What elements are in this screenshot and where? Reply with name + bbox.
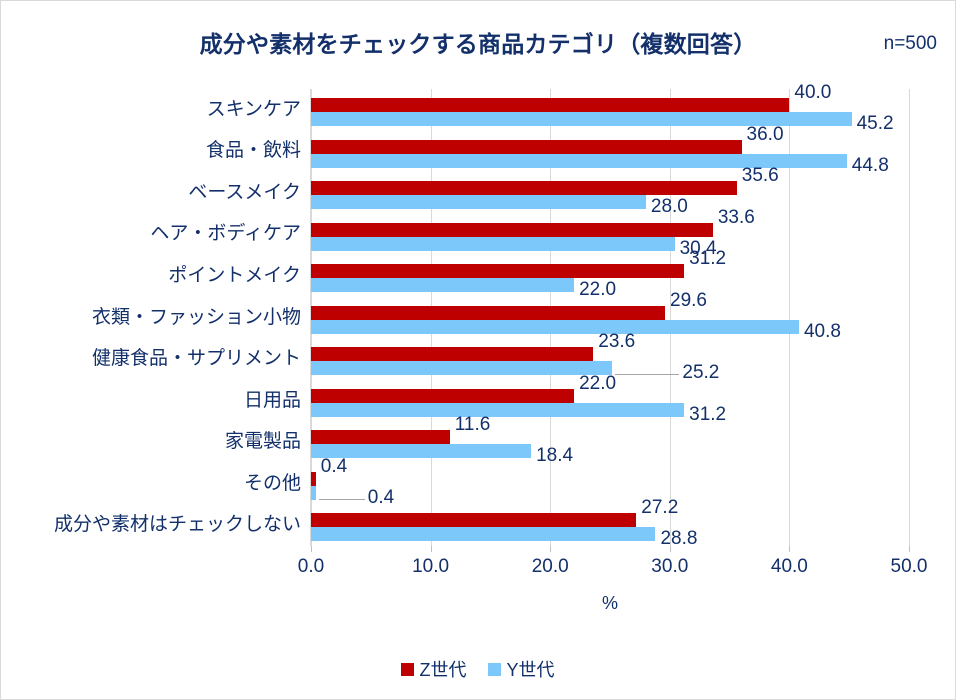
data-label: 35.6	[742, 166, 779, 185]
leader-line	[319, 499, 365, 500]
axis-tick	[550, 546, 551, 552]
chart-row: 0.40.4	[311, 463, 909, 505]
bar-Z世代	[311, 264, 684, 278]
category-axis: スキンケア食品・飲料ベースメイクヘア・ボディケアポイントメイク衣類・ファッション…	[1, 89, 301, 546]
chart-container: 成分や素材をチェックする商品カテゴリ（複数回答） n=500 スキンケア食品・飲…	[0, 0, 956, 700]
bar-Z世代	[311, 140, 742, 154]
legend-swatch-icon	[488, 663, 501, 676]
chart-row: 27.228.8	[311, 504, 909, 546]
chart-row: 22.031.2	[311, 380, 909, 422]
sample-size-annotation: n=500	[884, 33, 937, 55]
x-tick-label: 0.0	[298, 556, 324, 578]
gridline	[909, 89, 910, 546]
data-label: 11.6	[455, 415, 491, 434]
legend-item-Z世代[interactable]: Z世代	[401, 656, 466, 682]
chart-title: 成分や素材をチェックする商品カテゴリ（複数回答）	[1, 25, 955, 59]
category-label: ベースメイク	[1, 183, 301, 202]
value-axis: 0.010.020.030.040.050.0	[311, 546, 909, 586]
category-label: スキンケア	[1, 100, 301, 119]
axis-tick	[431, 546, 432, 552]
chart-row: 31.222.0	[311, 255, 909, 297]
axis-tick	[909, 546, 910, 552]
legend-item-Y世代[interactable]: Y世代	[488, 656, 554, 682]
category-label: 健康食品・サプリメント	[1, 349, 301, 368]
x-axis-title: %	[311, 593, 909, 614]
legend-label: Y世代	[506, 656, 554, 682]
bar-Z世代	[311, 98, 789, 112]
data-label: 40.0	[794, 83, 831, 102]
bar-Z世代	[311, 513, 636, 527]
category-label: 日用品	[1, 391, 301, 410]
bar-Z世代	[311, 347, 593, 361]
plot-area: 40.045.236.044.835.628.033.630.431.222.0…	[311, 89, 909, 546]
bar-Y世代	[311, 320, 799, 334]
bar-Y世代	[311, 403, 684, 417]
category-label: 家電製品	[1, 432, 301, 451]
chart-row: 33.630.4	[311, 214, 909, 256]
data-label: 0.4	[321, 457, 347, 476]
bar-Z世代	[311, 430, 450, 444]
data-label: 29.6	[670, 291, 707, 310]
axis-tick	[789, 546, 790, 552]
x-tick-label: 10.0	[412, 556, 449, 578]
bar-Z世代	[311, 306, 665, 320]
chart-legend: Z世代Y世代	[1, 656, 955, 682]
bar-Y世代	[311, 237, 675, 251]
category-label: 食品・飲料	[1, 141, 301, 160]
bar-Z世代	[311, 389, 574, 403]
data-label: 31.2	[689, 249, 726, 268]
axis-tick	[311, 546, 312, 552]
data-label: 33.6	[718, 208, 755, 227]
category-label: ポイントメイク	[1, 266, 301, 285]
chart-row: 36.044.8	[311, 131, 909, 173]
bar-Z世代	[311, 472, 316, 486]
category-label: ヘア・ボディケア	[1, 224, 301, 243]
bar-Y世代	[311, 195, 646, 209]
data-label: 27.2	[641, 498, 678, 517]
data-label: 36.0	[747, 125, 784, 144]
bar-Y世代	[311, 361, 612, 375]
category-label: 衣類・ファッション小物	[1, 308, 301, 327]
category-label: その他	[1, 474, 301, 493]
chart-row: 40.045.2	[311, 89, 909, 131]
data-label: 22.0	[579, 374, 616, 393]
x-tick-label: 20.0	[532, 556, 569, 578]
legend-label: Z世代	[419, 656, 466, 682]
leader-line	[615, 374, 679, 375]
x-tick-label: 40.0	[771, 556, 808, 578]
category-label: 成分や素材はチェックしない	[1, 515, 301, 534]
chart-row: 35.628.0	[311, 172, 909, 214]
bar-Z世代	[311, 181, 737, 195]
x-tick-label: 30.0	[651, 556, 688, 578]
chart-row: 11.618.4	[311, 421, 909, 463]
legend-swatch-icon	[401, 663, 414, 676]
bar-Z世代	[311, 223, 713, 237]
bar-Y世代	[311, 486, 316, 500]
x-tick-label: 50.0	[891, 556, 928, 578]
data-label: 23.6	[598, 332, 635, 351]
bar-Y世代	[311, 527, 655, 541]
axis-tick	[670, 546, 671, 552]
bar-Y世代	[311, 278, 574, 292]
